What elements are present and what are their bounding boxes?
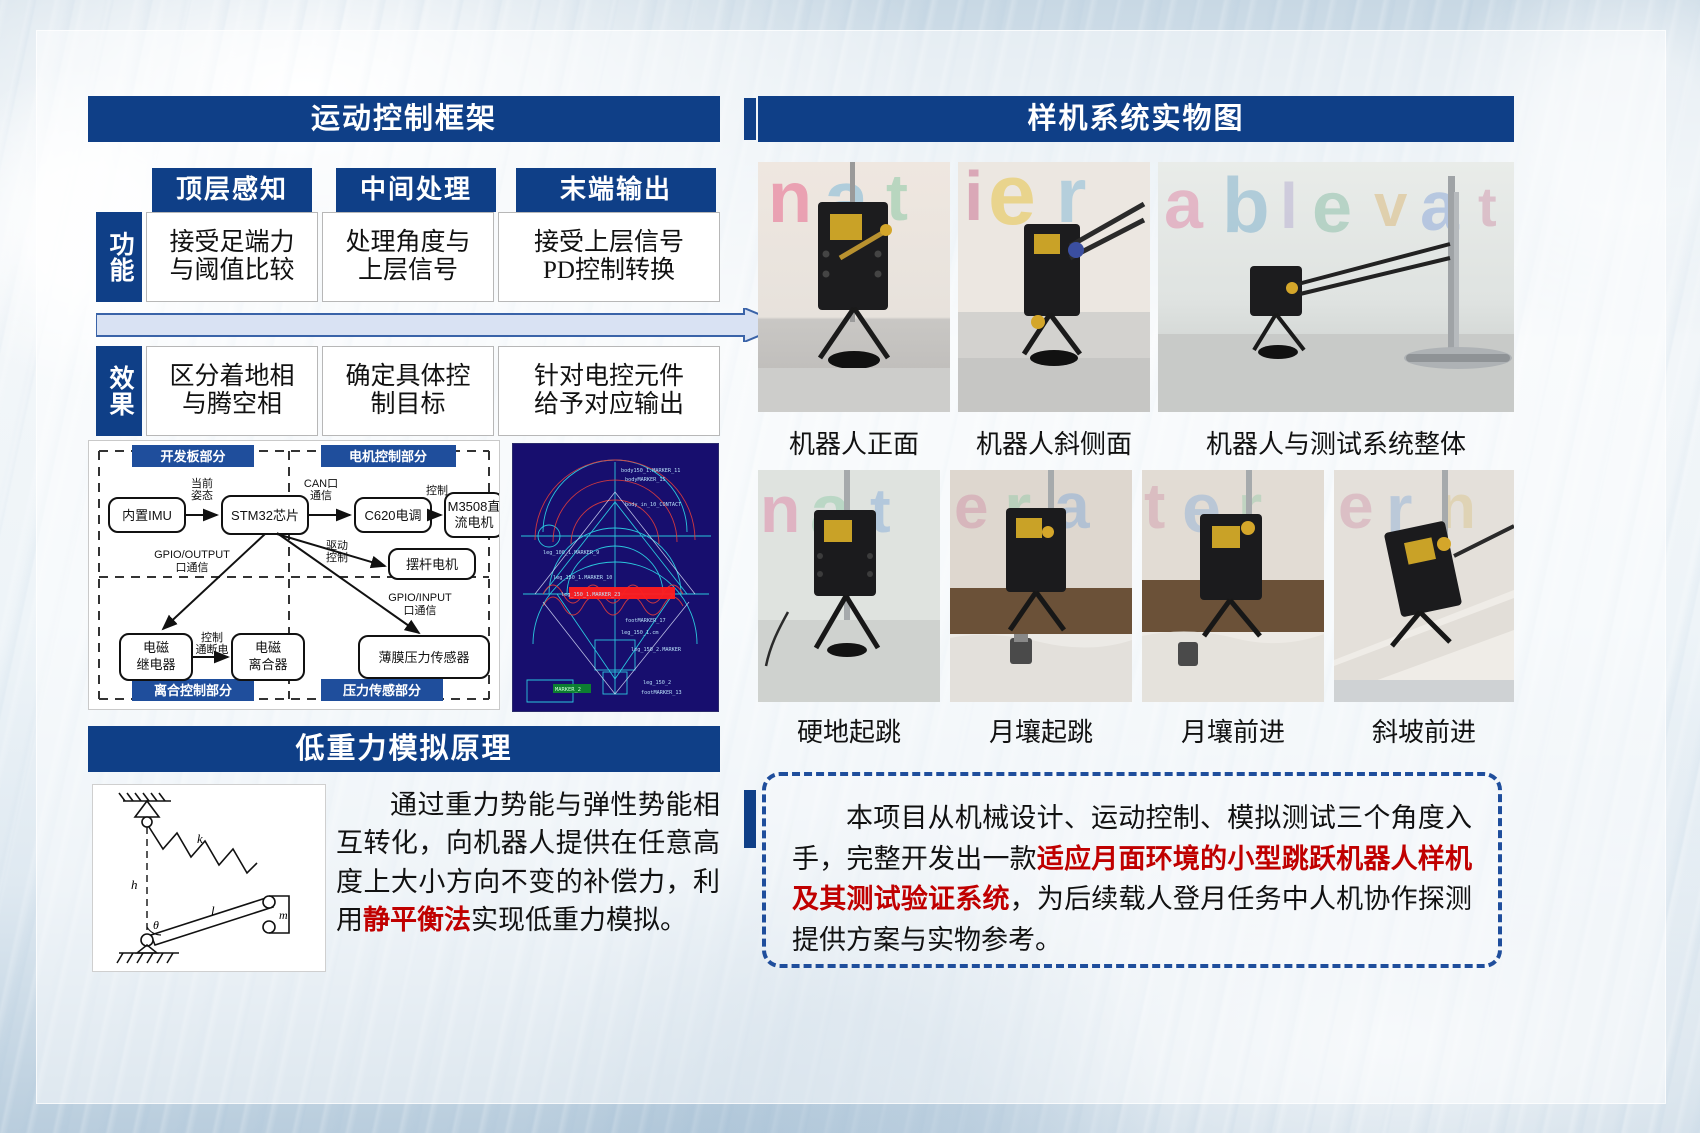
adams-simulation-screenshot: body150_1.MARKER_11 bodyMARKER_15 body_i… <box>512 443 719 712</box>
photo-caption-robot-oblique: 机器人斜侧面 <box>958 424 1150 461</box>
blockdiag-section-pressure-sense: 压力传感部分 <box>343 683 421 698</box>
svg-text:t: t <box>1144 470 1165 542</box>
matrix-cell-1-2: 针对电控元件 给予对应输出 <box>498 346 720 436</box>
matrix-cell-1-1: 确定具体控 制目标 <box>322 346 494 436</box>
matrix-cell-line: 制目标 <box>370 391 445 419</box>
blockdiag-edge-gpio-out-2: 口通信 <box>176 561 209 574</box>
matrix-cell-line: 确定具体控 <box>345 363 470 391</box>
matrix-col-header-0: 顶层感知 <box>152 168 312 212</box>
photo-caption-slope-forward: 斜坡前进 <box>1334 712 1514 749</box>
svg-text:n: n <box>768 162 812 238</box>
matrix-cell-line: 给予对应输出 <box>534 391 684 419</box>
blockdiag-label-imu: 内置IMU <box>122 508 172 523</box>
blockdiag-label-relay-2: 继电器 <box>136 657 175 672</box>
photo-caption-robot-with-test-system: 机器人与测试系统整体 <box>1158 424 1514 461</box>
blockdiag-label-mcu: STM32芯片 <box>231 508 299 523</box>
cad-label-5: leg_150_1.MARKER_23 <box>561 592 620 598</box>
blockdiag-edge-can-1: CAN口 <box>304 478 338 490</box>
photo-caption-robot-front: 机器人正面 <box>758 424 950 461</box>
lowg-label-k: k <box>197 831 203 846</box>
panel-title-prototype-system: 样机系统实物图 <box>758 96 1514 142</box>
blockdiag-edge-onoff-2: 通断电 <box>196 642 229 656</box>
matrix-cell-0-0: 接受足端力 与阈值比较 <box>146 212 318 302</box>
low-gravity-principle-figure: h k l m θ <box>92 784 326 972</box>
matrix-cell-1-0: 区分着地相 与腾空相 <box>146 346 318 436</box>
blockdiag-label-film-sensor: 薄膜压力传感器 <box>378 650 469 665</box>
cad-label-2: body_in_10_CONTACT <box>625 502 681 508</box>
blockdiag-edge-ctrl: 控制 <box>426 483 448 497</box>
matrix-cell-line: 接受足端力 <box>169 229 294 257</box>
blockdiag-edge-pose-2: 姿态 <box>191 489 213 502</box>
decor-tab-top <box>744 98 756 140</box>
blockdiag-edge-can-2: 通信 <box>310 489 332 502</box>
lowg-label-m: m <box>279 908 288 922</box>
matrix-cell-line: 区分着地相 <box>169 363 294 391</box>
matrix-cell-line: 处理角度与 <box>345 229 470 257</box>
blockdiag-edge-onoff-1: 控制 <box>201 630 223 644</box>
low-gravity-text-after: 实现低重力模拟。 <box>471 905 687 935</box>
cad-label-0: body150_1.MARKER_11 <box>621 468 680 474</box>
photo-robot-oblique: i e r <box>958 162 1150 412</box>
svg-text:n: n <box>760 472 800 546</box>
blockdiag-label-motor-2: 流电机 <box>454 515 493 530</box>
control-framework-matrix: 顶层感知 中间处理 末端输出 功能 效果 接受足端力 与阈值比较 处理角度与 上… <box>88 168 720 416</box>
blockdiag-edge-gpio-out-1: GPIO/OUTPUT <box>154 549 230 561</box>
cad-label-3: leg_100_1.MARKER_9 <box>543 550 599 556</box>
flow-arrow-icon <box>96 308 786 342</box>
project-summary-box: 本项目从机械设计、运动控制、模拟测试三个角度入手，完整开发出一款适应月面环境的小… <box>762 772 1502 968</box>
blockdiag-edge-pose-1: 当前 <box>191 476 213 490</box>
blockdiag-label-clutch-2: 离合器 <box>248 657 287 672</box>
matrix-cell-line: 上层信号 <box>358 257 458 285</box>
panel-title-motion-control-text: 运动控制框架 <box>88 96 720 142</box>
matrix-cell-line: 针对电控元件 <box>534 363 684 391</box>
cad-label-marker2: MARKER_2 <box>555 687 581 693</box>
panel-title-low-gravity: 低重力模拟原理 <box>88 726 720 772</box>
low-gravity-description: 通过重力势能与弹性势能相互转化，向机器人提供在任意高度上大小方向不变的补偿力，利… <box>336 786 720 939</box>
lowg-label-h: h <box>131 877 138 892</box>
matrix-cell-0-2: 接受上层信号 PD控制转换 <box>498 212 720 302</box>
lowg-label-theta: θ <box>153 918 159 932</box>
matrix-cell-line: PD控制转换 <box>543 257 675 285</box>
blockdiag-edge-drive-1: 驱动 <box>326 539 348 552</box>
system-block-diagram: 开发板部分 电机控制部分 离合控制部分 压力传感部分 内置IMU STM32芯片… <box>88 440 500 710</box>
photo-hard-ground-jump: n a t <box>758 470 940 702</box>
blockdiag-section-clutch-control: 离合控制部分 <box>154 683 232 698</box>
blockdiag-label-motor-1: M3508直 <box>448 499 499 514</box>
lowg-label-l: l <box>211 903 215 918</box>
cad-label-1: bodyMARKER_15 <box>625 477 666 483</box>
blockdiag-edge-gpio-in-2: 口通信 <box>404 604 437 617</box>
blockdiag-label-relay-1: 电磁 <box>143 640 169 655</box>
cad-label-7: leg_150_1.cm <box>621 630 658 636</box>
svg-text:e: e <box>954 473 988 542</box>
cad-label-8: leg_150_2.MARKER <box>631 647 682 653</box>
svg-text:v: v <box>1374 172 1408 239</box>
svg-text:a: a <box>1164 165 1204 243</box>
blockdiag-label-clutch-1: 电磁 <box>255 640 281 655</box>
matrix-row-label-function: 功能 <box>96 212 142 302</box>
cad-label-9: leg_150_2 <box>643 680 671 686</box>
svg-text:e: e <box>1338 470 1374 542</box>
matrix-cell-line: 与腾空相 <box>182 391 282 419</box>
photo-lunar-soil-jump: e r a <box>950 470 1132 702</box>
photo-lunar-soil-forward: t e r <box>1142 470 1324 702</box>
matrix-col-header-1: 中间处理 <box>336 168 496 212</box>
decor-tab-bottom <box>744 790 756 848</box>
matrix-row-label-effect: 效果 <box>96 346 142 436</box>
svg-text:i: i <box>964 162 983 235</box>
blockdiag-section-dev-board: 开发板部分 <box>160 449 225 464</box>
matrix-cell-line: 与阈值比较 <box>169 257 294 285</box>
photo-slope-forward: e r n <box>1334 470 1514 702</box>
svg-text:l: l <box>1280 170 1298 242</box>
svg-text:t: t <box>886 162 908 234</box>
panel-title-motion-control: 运动控制框架 <box>88 96 720 142</box>
matrix-col-header-2: 末端输出 <box>516 168 716 212</box>
blockdiag-section-motor-control: 电机控制部分 <box>349 449 427 464</box>
blockdiag-edge-drive-2: 控制 <box>326 550 348 564</box>
cad-label-6: footMARKER_17 <box>625 618 666 624</box>
blockdiag-edge-gpio-in-1: GPIO/INPUT <box>388 592 452 604</box>
blockdiag-label-esc: C620电调 <box>364 508 421 523</box>
blockdiag-label-swing-motor: 摆杆电机 <box>406 557 458 572</box>
photo-caption-lunar-soil-forward: 月壤前进 <box>1142 712 1324 749</box>
low-gravity-text-highlight: 静平衡法 <box>363 905 471 935</box>
svg-text:e: e <box>1312 168 1352 248</box>
photo-caption-lunar-soil-jump: 月壤起跳 <box>950 712 1132 749</box>
cad-label-4: leg_150_1.MARKER_10 <box>553 575 612 581</box>
matrix-cell-0-1: 处理角度与 上层信号 <box>322 212 494 302</box>
photo-caption-hard-ground-jump: 硬地起跳 <box>758 712 940 749</box>
svg-text:b: b <box>1222 162 1270 249</box>
photo-robot-front: n a t <box>758 162 950 412</box>
svg-text:t: t <box>1478 175 1497 238</box>
cad-label-10: footMARKER_13 <box>641 690 682 696</box>
matrix-cell-line: 接受上层信号 <box>534 229 684 257</box>
photo-robot-with-test-system: a b l e v a t <box>1158 162 1514 412</box>
